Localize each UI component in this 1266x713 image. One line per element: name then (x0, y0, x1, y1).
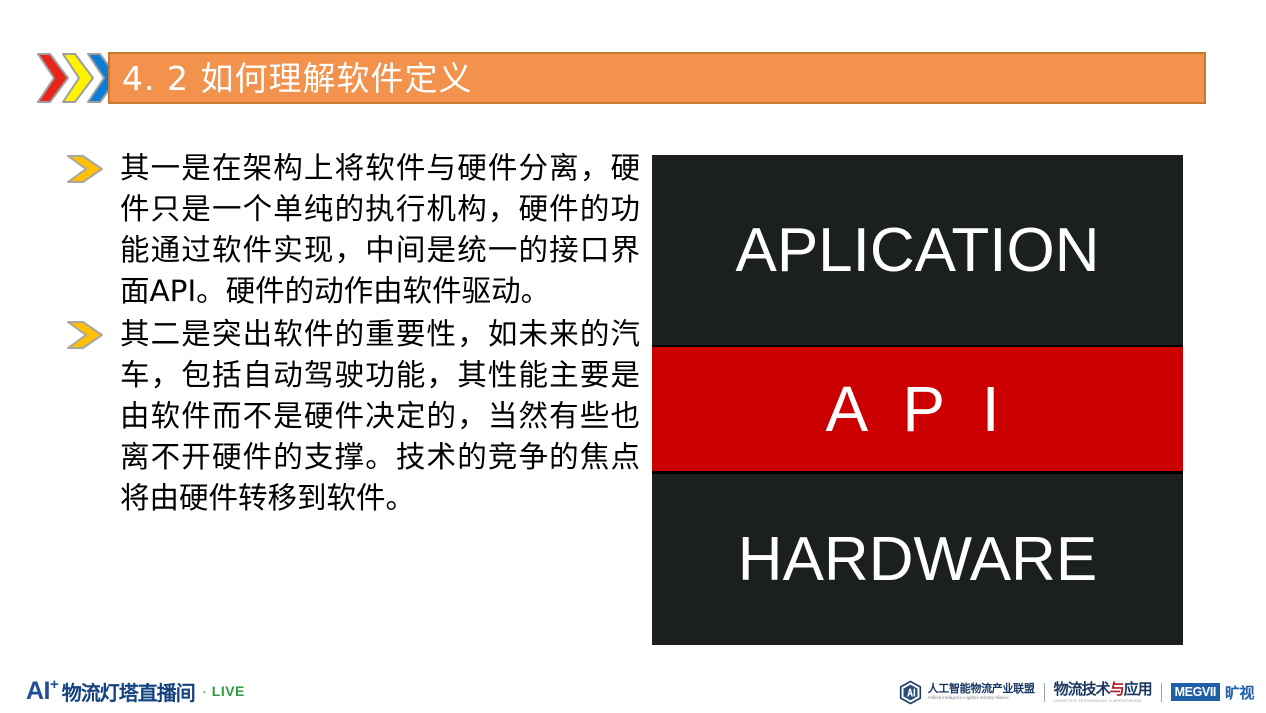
aila-logo: 人工智能物流产业联盟 Artificial Intelligence Logis… (898, 680, 1035, 705)
logo-divider (1044, 683, 1045, 702)
slide-canvas: 4. 2 如何理解软件定义 其一是在架构上将软件与硬件分离，硬件只是一个单纯的执… (0, 0, 1266, 713)
ltaa-part-b: 应用 (1124, 680, 1152, 698)
footer-logo-group: 人工智能物流产业联盟 Artificial Intelligence Logis… (898, 678, 1254, 706)
aila-logo-text: 人工智能物流产业联盟 Artificial Intelligence Logis… (928, 683, 1035, 700)
brand-ai-text: AI (26, 677, 50, 706)
diagram-layer-api: A P I (652, 347, 1183, 474)
ltaa-part-hl: 与 (1110, 680, 1124, 698)
logistics-tech-chinese: 物流技术与应用 (1054, 682, 1152, 697)
megvii-wordmark: MEGVII (1171, 683, 1220, 701)
aila-english: Artificial Intelligence Logistics Indust… (928, 696, 1035, 700)
brand-live-label: LIVE (212, 683, 245, 699)
brand-separator-dot: · (202, 683, 207, 700)
footer-brand-left: AI + 物流灯塔直播间 · LIVE (26, 676, 245, 706)
chevron-right-icon (66, 154, 106, 184)
logistics-tech-text: 物流技术与应用 LOGISTICS TECHNOLOGY & APPLICATI… (1054, 682, 1152, 703)
brand-plus-symbol: + (50, 676, 59, 693)
ltaa-part-a: 物流技术 (1054, 680, 1110, 698)
hexagon-ai-icon (898, 680, 923, 705)
chevron-right-icon (66, 320, 106, 350)
architecture-diagram: APLICATION A P I HARDWARE (652, 155, 1183, 645)
bullet-item: 其二是突出软件的重要性，如未来的汽车，包括自动驾驶功能，其性能主要是由软件而不是… (64, 314, 640, 519)
slide-title: 4. 2 如何理解软件定义 (122, 54, 1182, 104)
bullet-list: 其一是在架构上将软件与硬件分离，硬件只是一个单纯的执行机构，硬件的功能通过软件实… (64, 148, 640, 521)
logo-divider (1161, 683, 1162, 702)
bullet-text: 其一是在架构上将软件与硬件分离，硬件只是一个单纯的执行机构，硬件的功能通过软件实… (120, 148, 640, 312)
bullet-item: 其一是在架构上将软件与硬件分离，硬件只是一个单纯的执行机构，硬件的功能通过软件实… (64, 148, 640, 312)
logistics-tech-logo: 物流技术与应用 LOGISTICS TECHNOLOGY & APPLICATI… (1054, 682, 1152, 703)
megvii-chinese: 旷视 (1225, 682, 1254, 703)
logistics-tech-english: LOGISTICS TECHNOLOGY & APPLICATION (1054, 699, 1152, 703)
bullet-text: 其二是突出软件的重要性，如未来的汽车，包括自动驾驶功能，其性能主要是由软件而不是… (120, 314, 640, 519)
diagram-layer-hardware: HARDWARE (652, 474, 1183, 645)
diagram-layer-application: APLICATION (652, 155, 1183, 347)
megvii-logo: MEGVII 旷视 (1171, 682, 1254, 703)
brand-chinese-text: 物流灯塔直播间 (62, 677, 195, 706)
aila-chinese: 人工智能物流产业联盟 (928, 683, 1035, 694)
